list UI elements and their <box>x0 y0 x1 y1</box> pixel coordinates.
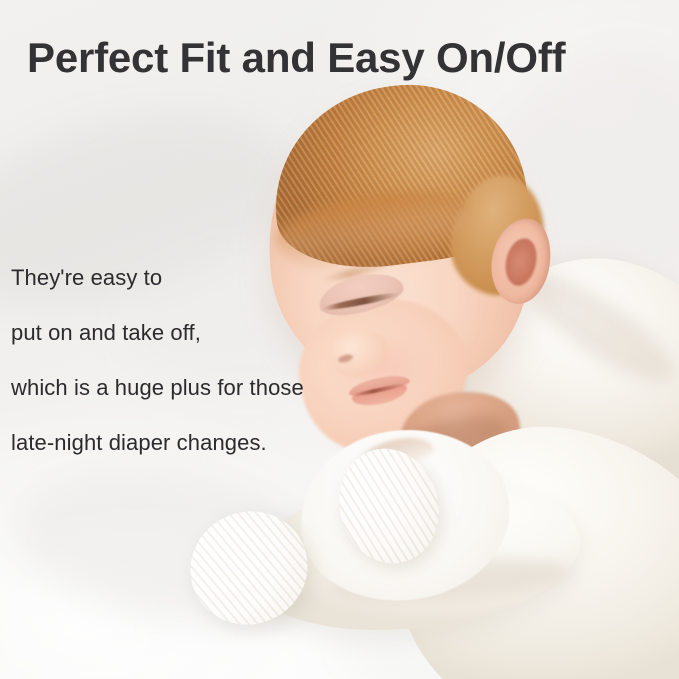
body-copy-line: late-night diaper changes. <box>11 415 304 470</box>
product-feature-banner: Perfect Fit and Easy On/Off They're easy… <box>0 0 679 679</box>
body-copy: They're easy to put on and take off, whi… <box>11 250 304 470</box>
body-copy-line: They're easy to <box>11 250 304 305</box>
body-copy-line: put on and take off, <box>11 305 304 360</box>
body-copy-line: which is a huge plus for those <box>11 360 304 415</box>
headline: Perfect Fit and Easy On/Off <box>27 36 565 80</box>
